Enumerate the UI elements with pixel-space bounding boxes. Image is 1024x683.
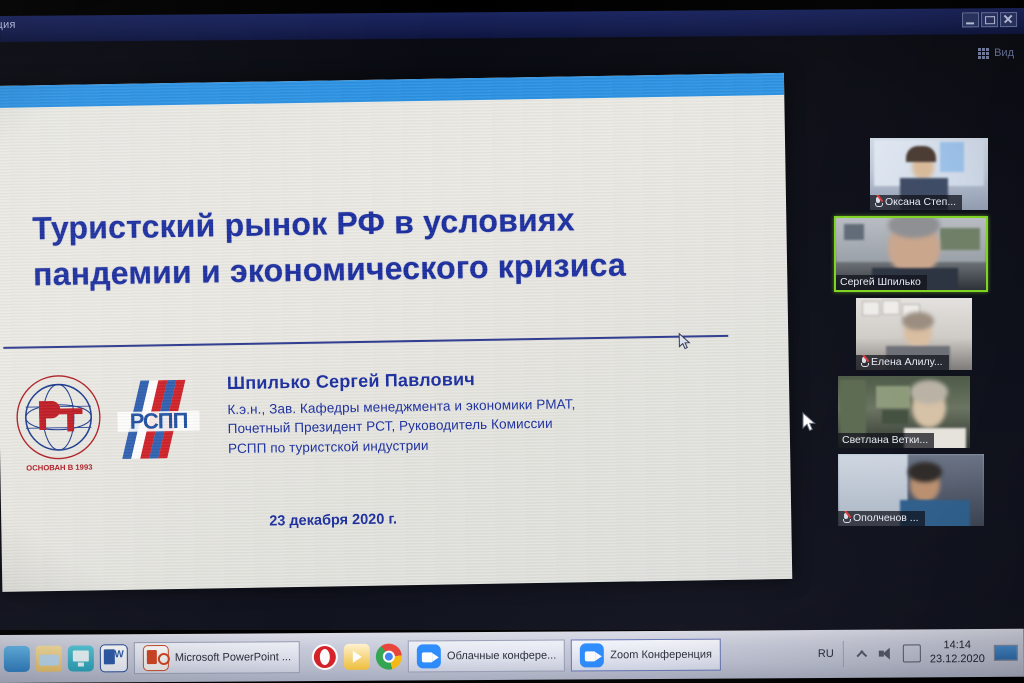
participant-name: Сергей Шпилько [840, 276, 921, 288]
taskbar-browser-icons[interactable] [310, 644, 402, 671]
participant-thumbnail[interactable]: Ополченов ... [838, 454, 984, 526]
grid-icon [978, 48, 989, 59]
slide-title: Туристский рынок РФ в условиях пандемии … [32, 194, 733, 298]
chrome-icon[interactable] [376, 644, 402, 670]
svg-text:ОСНОВАН В 1993: ОСНОВАН В 1993 [26, 463, 92, 473]
speaker-icon[interactable] [878, 646, 894, 662]
rspp-logo-icon: РСПП [115, 378, 202, 461]
taskbar-button-zoom-conference[interactable]: Zoom Конференция [571, 639, 721, 672]
mic-muted-icon [842, 513, 850, 524]
taskbar[interactable]: Microsoft PowerPoint ... Облачные конфер… [0, 629, 1024, 683]
participant-name: Ополченов ... [853, 512, 919, 524]
participant-thumbnail[interactable]: Светлана Ветки... [838, 376, 970, 448]
taskbar-button-label: Zoom Конференция [610, 649, 712, 662]
participant-thumbnail[interactable]: Оксана Степ... [870, 138, 988, 210]
slide-date: 23 декабря 2020 г. [269, 511, 397, 529]
participant-nametag: Ополченов ... [838, 511, 925, 527]
shared-screen-slide[interactable]: Туристский рынок РФ в условиях пандемии … [0, 73, 792, 592]
slide-speaker-block: Шпилько Сергей Павлович К.э.н., Зав. Каф… [227, 364, 698, 458]
participant-name: Оксана Степ... [885, 196, 956, 208]
mic-muted-icon [874, 197, 882, 208]
participant-nametag: Светлана Ветки... [838, 433, 934, 449]
slide-divider [3, 335, 728, 349]
participant-thumbnail-active-speaker[interactable]: Сергей Шпилько [834, 216, 988, 292]
clock-date: 23.12.2020 [930, 653, 985, 667]
taskbar-quick-launch[interactable] [2, 644, 128, 673]
window-title: нция [0, 19, 16, 31]
maximize-button[interactable] [981, 12, 998, 27]
clock-time: 14:14 [930, 639, 985, 653]
taskbar-button-label: Microsoft PowerPoint ... [175, 651, 291, 664]
participant-nametag: Сергей Шпилько [836, 275, 927, 291]
clock[interactable]: 14:14 23.12.2020 [930, 639, 985, 667]
language-indicator[interactable]: RU [818, 648, 834, 660]
show-desktop-icon[interactable] [994, 645, 1018, 661]
taskbar-button-cloud-conference[interactable]: Облачные конфере... [408, 640, 565, 673]
view-button-label: Вид [994, 47, 1014, 59]
desktop-mouse-cursor [802, 412, 816, 433]
slide-mouse-cursor [678, 332, 690, 350]
opera-icon[interactable] [312, 644, 338, 670]
network-icon[interactable] [903, 644, 921, 662]
slide-logos: ОСНОВАН В 1993 РСПП [7, 368, 199, 481]
system-tray[interactable]: RU 14:14 23.12.2020 [818, 639, 1024, 668]
view-button[interactable]: Вид [978, 47, 1014, 59]
monitor-icon[interactable] [68, 645, 94, 671]
participant-thumbnail[interactable]: Елена Алилу... [856, 298, 972, 370]
svg-text:РСПП: РСПП [130, 408, 188, 434]
screen-photo: нция Вид Туристский рынок РФ в условиях … [0, 0, 1024, 683]
window-controls[interactable] [962, 12, 1017, 27]
folder-icon[interactable] [36, 646, 62, 672]
zoom-icon [580, 643, 604, 667]
word-icon[interactable] [100, 644, 128, 672]
speaker-name: Шпилько Сергей Павлович [227, 364, 697, 394]
minimize-button[interactable] [962, 12, 979, 27]
mic-muted-icon [860, 357, 868, 368]
participant-nametag: Елена Алилу... [856, 355, 949, 371]
taskbar-button-powerpoint[interactable]: Microsoft PowerPoint ... [134, 641, 300, 674]
participant-filmstrip[interactable]: Оксана Степ... Сергей Шпилько [834, 138, 992, 532]
zoom-icon [417, 644, 441, 668]
participant-name: Елена Алилу... [871, 356, 943, 368]
participant-name: Светлана Ветки... [842, 434, 928, 446]
participant-nametag: Оксана Степ... [870, 195, 962, 211]
powerpoint-icon [143, 645, 169, 671]
blue-app-icon[interactable] [4, 646, 30, 672]
close-button[interactable] [1000, 12, 1017, 27]
taskbar-button-label: Облачные конфере... [447, 650, 556, 663]
chevron-up-icon[interactable] [853, 646, 869, 662]
rst-logo-icon: ОСНОВАН В 1993 [9, 373, 109, 475]
media-player-icon[interactable] [344, 644, 370, 670]
tray-separator [843, 641, 844, 667]
